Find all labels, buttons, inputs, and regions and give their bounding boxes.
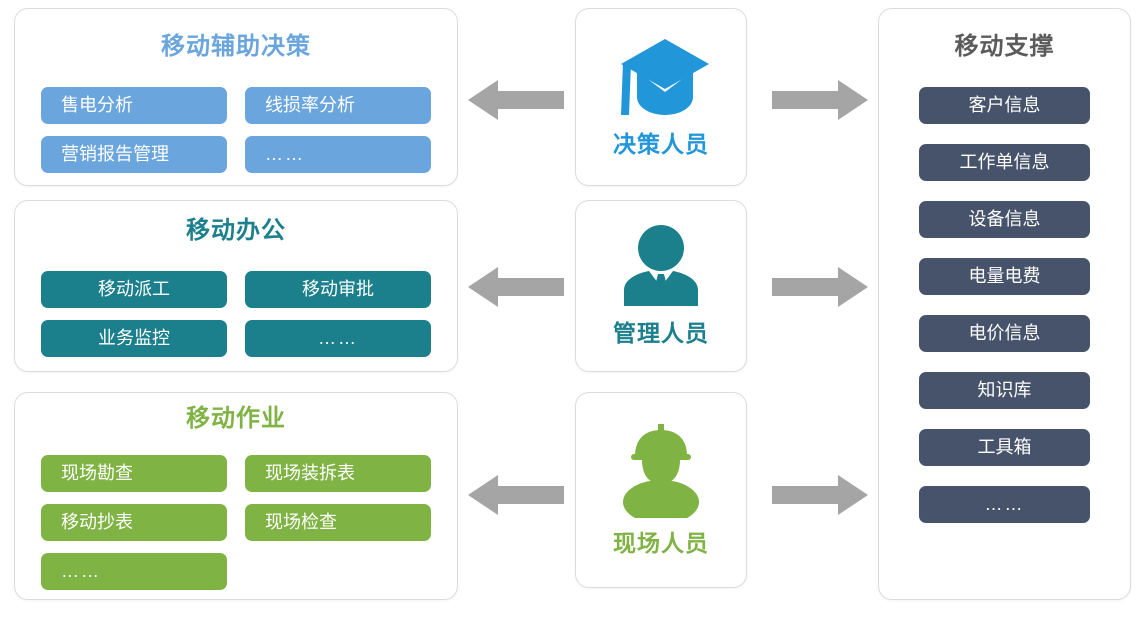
group-item[interactable]: 移动派工	[41, 271, 227, 308]
support-item[interactable]: 知识库	[919, 372, 1090, 409]
support-item-list: 客户信息 工作单信息 设备信息 电量电费 电价信息 知识库 工具箱 ……	[919, 87, 1090, 523]
support-item[interactable]: 电量电费	[919, 258, 1090, 295]
group-item[interactable]: 现场装拆表	[245, 455, 431, 492]
group-title: 移动办公	[15, 219, 457, 243]
persona-name: 决策人员	[613, 125, 709, 159]
arrow-left-decision	[468, 78, 564, 122]
group-title: 移动辅助决策	[15, 35, 457, 59]
group-panel-mobile-operations: 移动作业 现场勘查 现场装拆表 移动抄表 现场检查 ……	[14, 392, 458, 600]
group-item[interactable]: ……	[245, 136, 431, 173]
group-item[interactable]: ……	[41, 553, 227, 590]
group-item[interactable]: 营销报告管理	[41, 136, 227, 173]
group-item-list: 售电分析 线损率分析 营销报告管理 ……	[41, 87, 431, 173]
persona-name: 管理人员	[613, 314, 709, 348]
arrow-right-operations	[772, 473, 868, 517]
arrow-right-decision	[772, 78, 868, 122]
group-item[interactable]: 现场勘查	[41, 455, 227, 492]
persona-card-decision-maker[interactable]: 决策人员	[575, 8, 747, 186]
support-item[interactable]: 工作单信息	[919, 144, 1090, 181]
group-panel-mobile-decision-support: 移动辅助决策 售电分析 线损率分析 营销报告管理 ……	[14, 8, 458, 186]
support-item[interactable]: 设备信息	[919, 201, 1090, 238]
support-panel-title: 移动支撑	[879, 35, 1130, 59]
persona-name: 现场人员	[613, 524, 709, 558]
group-item[interactable]: 移动审批	[245, 271, 431, 308]
diagram-canvas: 移动辅助决策 售电分析 线损率分析 营销报告管理 …… 移动办公 移动派工 移动…	[0, 0, 1145, 617]
support-item[interactable]: 工具箱	[919, 429, 1090, 466]
support-item[interactable]: 客户信息	[919, 87, 1090, 124]
business-person-icon	[616, 224, 706, 308]
group-item[interactable]: ……	[245, 320, 431, 357]
support-item[interactable]: 电价信息	[919, 315, 1090, 352]
arrow-right-office	[772, 265, 868, 309]
group-item-list: 移动派工 移动审批 业务监控 ……	[41, 271, 431, 357]
hard-hat-worker-icon	[615, 422, 707, 518]
persona-card-field-worker[interactable]: 现场人员	[575, 392, 747, 588]
group-item[interactable]: 售电分析	[41, 87, 227, 124]
graduation-cap-icon	[613, 35, 709, 119]
support-panel-mobile-support: 移动支撑 客户信息 工作单信息 设备信息 电量电费 电价信息 知识库 工具箱 ……	[878, 8, 1131, 600]
arrow-left-operations	[468, 473, 564, 517]
group-title: 移动作业	[15, 407, 457, 431]
group-item-list: 现场勘查 现场装拆表 移动抄表 现场检查 ……	[41, 455, 431, 590]
arrow-left-office	[468, 265, 564, 309]
group-item[interactable]: 业务监控	[41, 320, 227, 357]
support-item[interactable]: ……	[919, 486, 1090, 523]
group-item[interactable]: 现场检查	[245, 504, 431, 541]
persona-card-manager[interactable]: 管理人员	[575, 200, 747, 372]
group-item[interactable]: 线损率分析	[245, 87, 431, 124]
group-panel-mobile-office: 移动办公 移动派工 移动审批 业务监控 ……	[14, 200, 458, 372]
group-item[interactable]: 移动抄表	[41, 504, 227, 541]
